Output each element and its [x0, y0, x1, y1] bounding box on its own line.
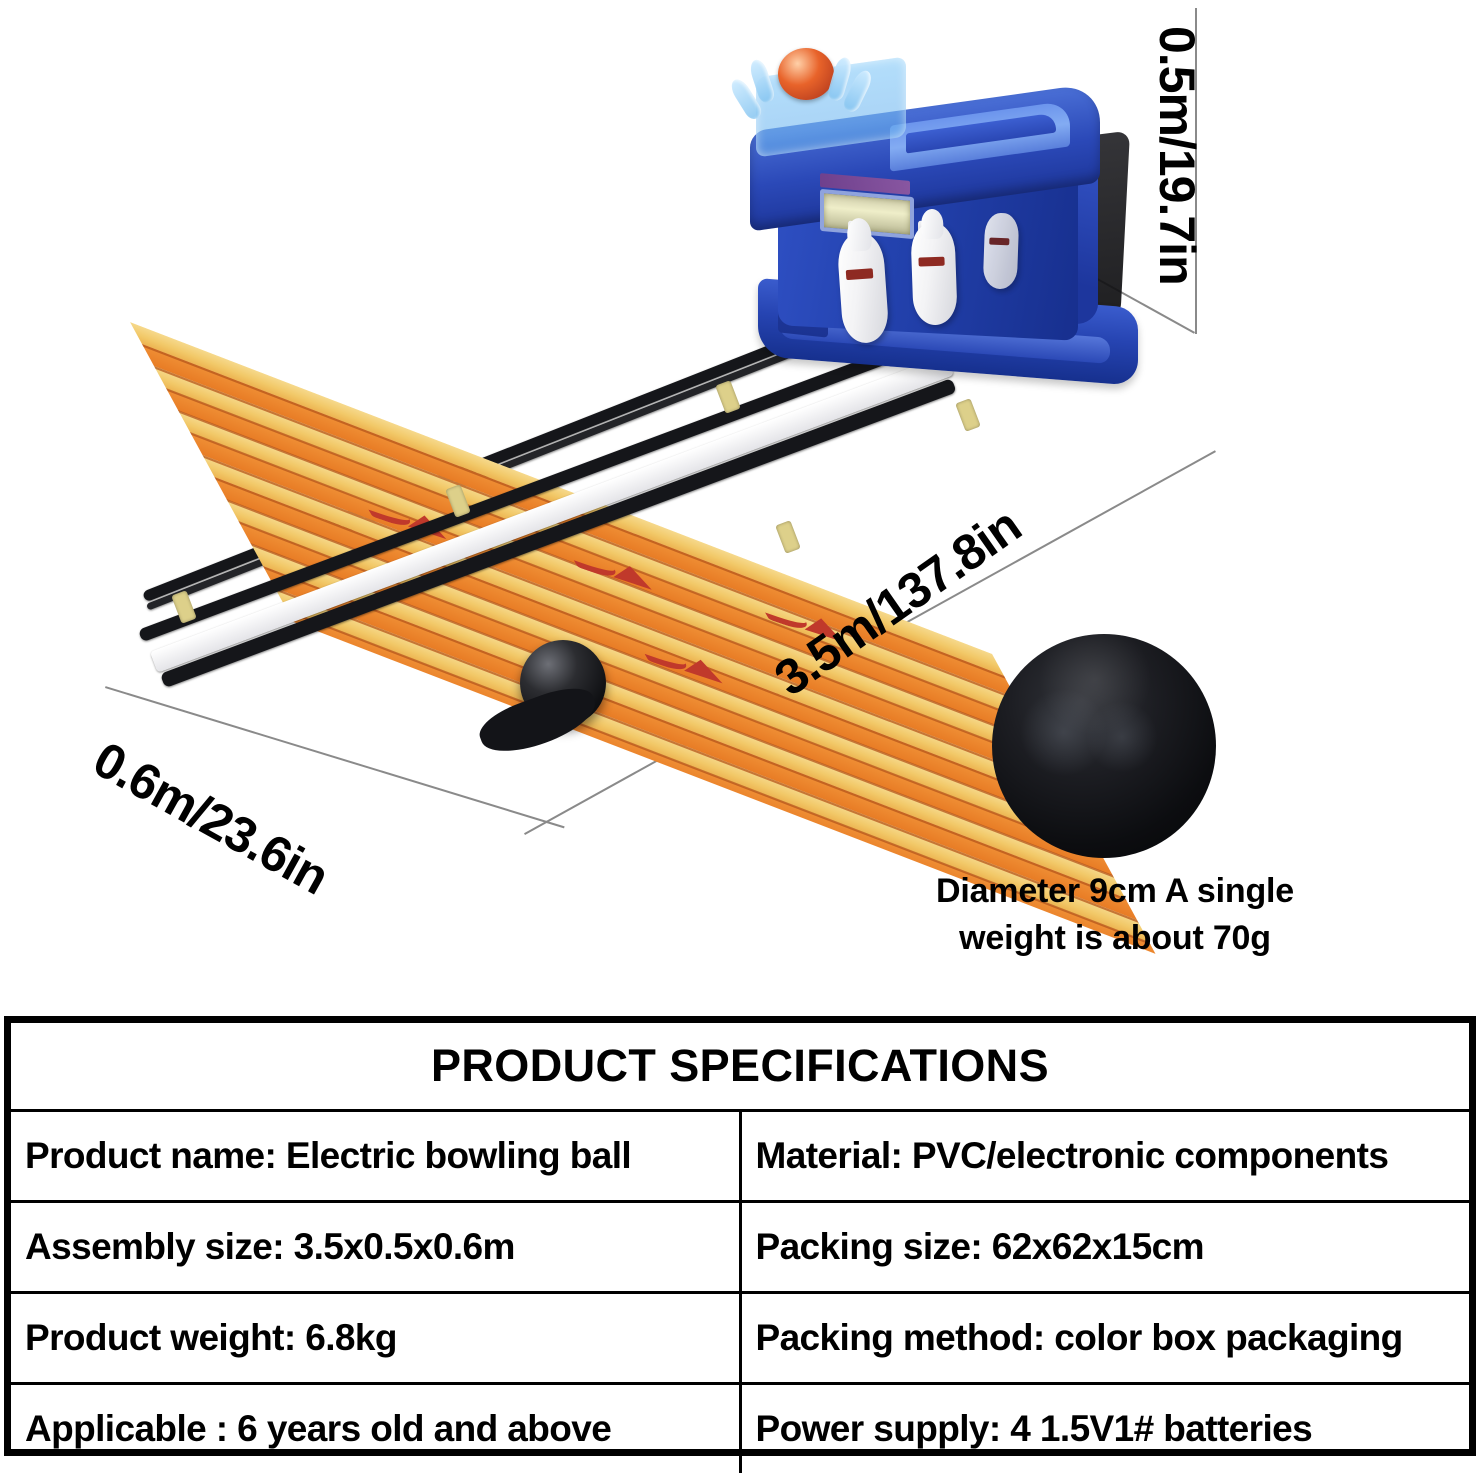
- bowling-machine-head: [720, 25, 1160, 385]
- table-row: Product name: Electric bowling ball Mate…: [11, 1111, 1469, 1202]
- ornament-ball-icon: [778, 48, 834, 100]
- pin-band: [918, 256, 944, 266]
- specimen-bowling-ball: [992, 634, 1216, 858]
- table-title-row: PRODUCT SPECIFICATIONS: [11, 1023, 1469, 1111]
- table-row: Product weight: 6.8kg Packing method: co…: [11, 1293, 1469, 1384]
- spec-cell-product-weight: Product weight: 6.8kg: [11, 1293, 740, 1384]
- product-specifications-table: PRODUCT SPECIFICATIONS Product name: Ele…: [4, 1016, 1476, 1456]
- pin-band: [846, 269, 873, 281]
- spec-cell-material: Material: PVC/electronic components: [740, 1111, 1469, 1202]
- bowling-pin: [910, 222, 958, 325]
- table-row: Assembly size: 3.5x0.5x0.6m Packing size…: [11, 1202, 1469, 1293]
- dimension-label-height: 0.5m/19.7in: [1148, 26, 1206, 285]
- ball-caption-text: Diameter 9cm A single weight is about 70…: [880, 868, 1350, 962]
- lane-clip: [955, 398, 981, 432]
- spec-cell-packing-method: Packing method: color box packaging: [740, 1293, 1469, 1384]
- bowling-pin: [983, 212, 1020, 289]
- spec-cell-packing-size: Packing size: 62x62x15cm: [740, 1202, 1469, 1293]
- pin-band: [990, 238, 1010, 246]
- table-title: PRODUCT SPECIFICATIONS: [11, 1023, 1469, 1111]
- spec-cell-product-name: Product name: Electric bowling ball: [11, 1111, 740, 1202]
- lane-clip: [715, 380, 741, 414]
- product-illustration: Diameter 9cm A single weight is about 70…: [0, 0, 1481, 1010]
- spec-cell-assembly-size: Assembly size: 3.5x0.5x0.6m: [11, 1202, 740, 1293]
- lane-clip: [775, 520, 801, 554]
